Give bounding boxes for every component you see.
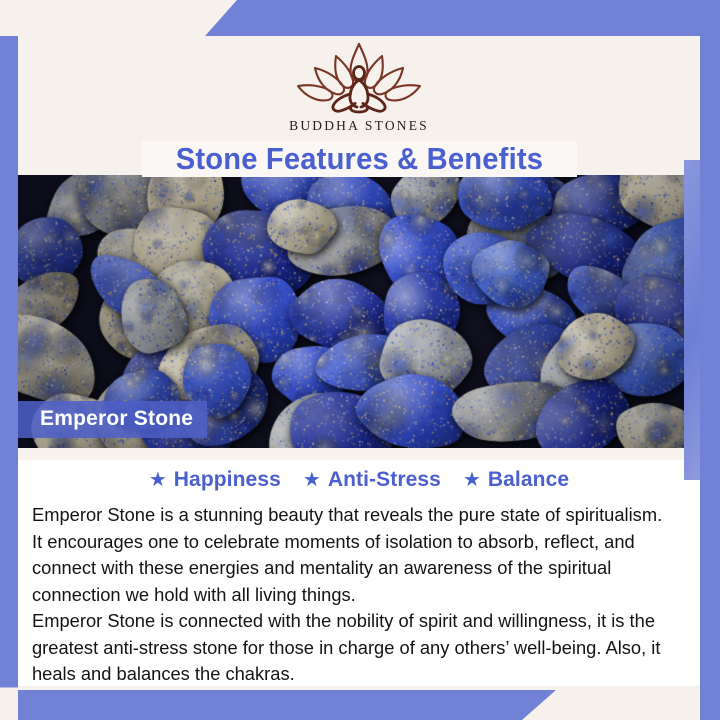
benefit-anti-stress: ★ Anti-Stress bbox=[303, 468, 441, 492]
right-accent-border bbox=[700, 0, 720, 720]
benefit-label: Anti-Stress bbox=[328, 468, 441, 492]
benefit-label: Balance bbox=[488, 468, 569, 492]
lotus-meditation-icon bbox=[284, 38, 434, 116]
benefits-row: ★ Happiness ★ Anti-Stress ★ Balance bbox=[26, 468, 692, 492]
page-title: Stone Features & Benefits bbox=[175, 141, 542, 177]
star-icon: ★ bbox=[149, 470, 167, 490]
header: BUDDHA STONES Stone Features & Benefits bbox=[18, 36, 700, 175]
brand-name: BUDDHA STONES bbox=[289, 118, 429, 134]
benefit-happiness: ★ Happiness bbox=[149, 468, 281, 492]
right-accent-highlight bbox=[684, 160, 700, 480]
stone-name-badge: Emperor Stone bbox=[18, 401, 207, 438]
description-paragraph-1: Emperor Stone is a stunning beauty that … bbox=[32, 502, 676, 608]
infographic-page: BUDDHA STONES Stone Features & Benefits … bbox=[0, 0, 720, 720]
description-paragraph-2: Emperor Stone is connected with the nobi… bbox=[32, 608, 676, 688]
content-top-strip bbox=[18, 448, 700, 460]
star-icon: ★ bbox=[463, 470, 481, 490]
left-accent-border bbox=[0, 0, 18, 720]
title-plate: Stone Features & Benefits bbox=[142, 141, 577, 177]
benefit-label: Happiness bbox=[174, 468, 281, 492]
stone-photo: Emperor Stone bbox=[18, 175, 703, 448]
top-accent-bar bbox=[205, 0, 720, 36]
brand-logo: BUDDHA STONES bbox=[284, 38, 434, 134]
benefit-balance: ★ Balance bbox=[463, 468, 569, 492]
star-icon: ★ bbox=[303, 470, 321, 490]
bottom-accent-bar bbox=[0, 690, 556, 720]
content-panel: ★ Happiness ★ Anti-Stress ★ Balance Empe… bbox=[18, 448, 700, 686]
description-body: Emperor Stone is a stunning beauty that … bbox=[26, 502, 692, 688]
